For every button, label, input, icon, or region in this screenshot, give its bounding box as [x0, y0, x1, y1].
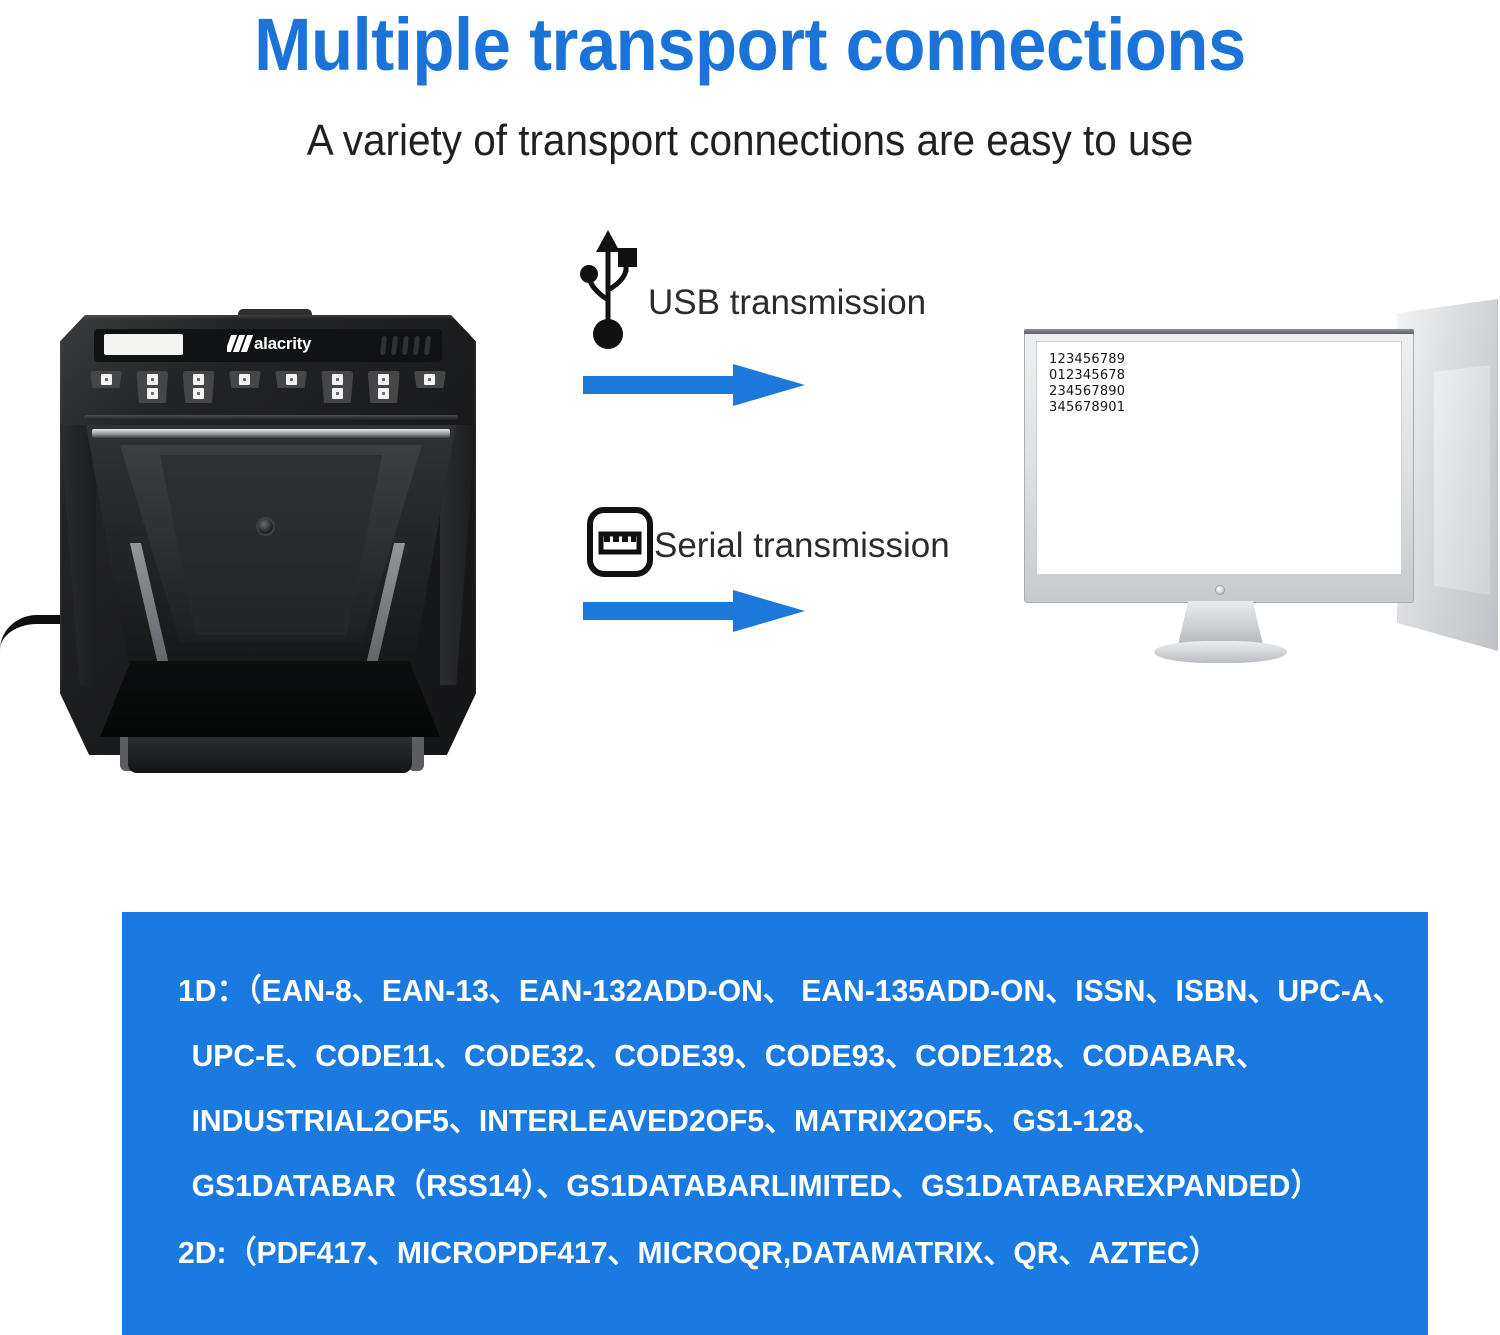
usb-icon — [578, 228, 650, 350]
symbology-line-1d-d: GS1DATABAR（RSS14）、GS1DATABARLIMITED、GS1D… — [178, 1153, 1352, 1218]
infographic-page: Multiple transport connections A variety… — [0, 0, 1500, 1335]
scanner-deck — [100, 661, 440, 737]
usb-transmission-label: USB transmission — [648, 283, 926, 323]
usb-transmission-arrow-icon — [583, 362, 805, 408]
led-module — [183, 371, 215, 403]
serial-transmission-arrow-icon — [583, 588, 805, 634]
malacrity-m-logo-icon — [227, 335, 253, 352]
scanner-brand-name: alacrity — [254, 334, 311, 353]
scanner-vents — [381, 336, 430, 355]
scanner-cable — [0, 615, 62, 650]
barcode-symbologies-panel: 1D：（EAN-8、EAN-13、EAN-132ADD-ON、 EAN-135A… — [122, 912, 1428, 1335]
monitor-power-led — [1215, 585, 1225, 595]
scanner-base — [128, 737, 412, 773]
output-line: 012345678 — [1049, 368, 1125, 384]
scanner-funnel-inner — [160, 455, 382, 635]
symbology-line-1d-b: UPC-E、CODE11、CODE32、CODE39、CODE93、CODE12… — [178, 1023, 1352, 1088]
scanner-window-gloss — [92, 429, 450, 438]
output-line: 345678901 — [1049, 400, 1125, 416]
page-subtitle: A variety of transport connections are e… — [60, 114, 1440, 168]
output-line: 234567890 — [1049, 384, 1125, 400]
barcode-scanner-image: alacrity — [48, 305, 488, 805]
led-module — [229, 371, 261, 388]
led-module — [275, 371, 307, 388]
monitor-screen: 123456789 012345678 234567890 345678901 — [1036, 341, 1402, 575]
serial-transmission-label: Serial transmission — [654, 526, 950, 566]
symbology-line-2d: 2D:（PDF417、MICROPDF417、MICROQR,DATAMATRI… — [178, 1220, 1352, 1285]
computer-monitor-image: 123456789 012345678 234567890 345678901 — [1002, 305, 1492, 665]
scanner-lens-icon — [256, 517, 275, 536]
led-module — [368, 371, 400, 403]
scanner-label-strip — [104, 334, 183, 355]
led-module — [90, 371, 122, 388]
led-module — [136, 371, 168, 403]
led-module — [414, 371, 446, 388]
scanner-top-panel: alacrity — [94, 329, 442, 362]
scanner-led-bar — [90, 371, 446, 407]
monitor-back-inner-panel — [1434, 365, 1490, 595]
page-title: Multiple transport connections — [53, 2, 1448, 88]
symbology-line-1d-c: INDUSTRIAL2OF5、INTERLEAVED2OF5、MATRIX2OF… — [178, 1088, 1352, 1153]
serial-port-icon — [586, 506, 654, 578]
monitor-stand-base — [1154, 641, 1287, 663]
barcode-symbologies-list: 1D：（EAN-8、EAN-13、EAN-132ADD-ON、 EAN-135A… — [178, 958, 1388, 1285]
symbology-line-1d-a: 1D：（EAN-8、EAN-13、EAN-132ADD-ON、 EAN-135A… — [178, 958, 1352, 1023]
monitor-top-bar — [1024, 329, 1414, 334]
scanner-brand: alacrity — [227, 334, 311, 353]
scanner-divider — [84, 415, 458, 420]
output-line: 123456789 — [1049, 352, 1125, 368]
monitor-stand-neck — [1178, 601, 1263, 645]
led-module — [321, 371, 353, 403]
scanned-barcode-output: 123456789 012345678 234567890 345678901 — [1049, 352, 1125, 416]
